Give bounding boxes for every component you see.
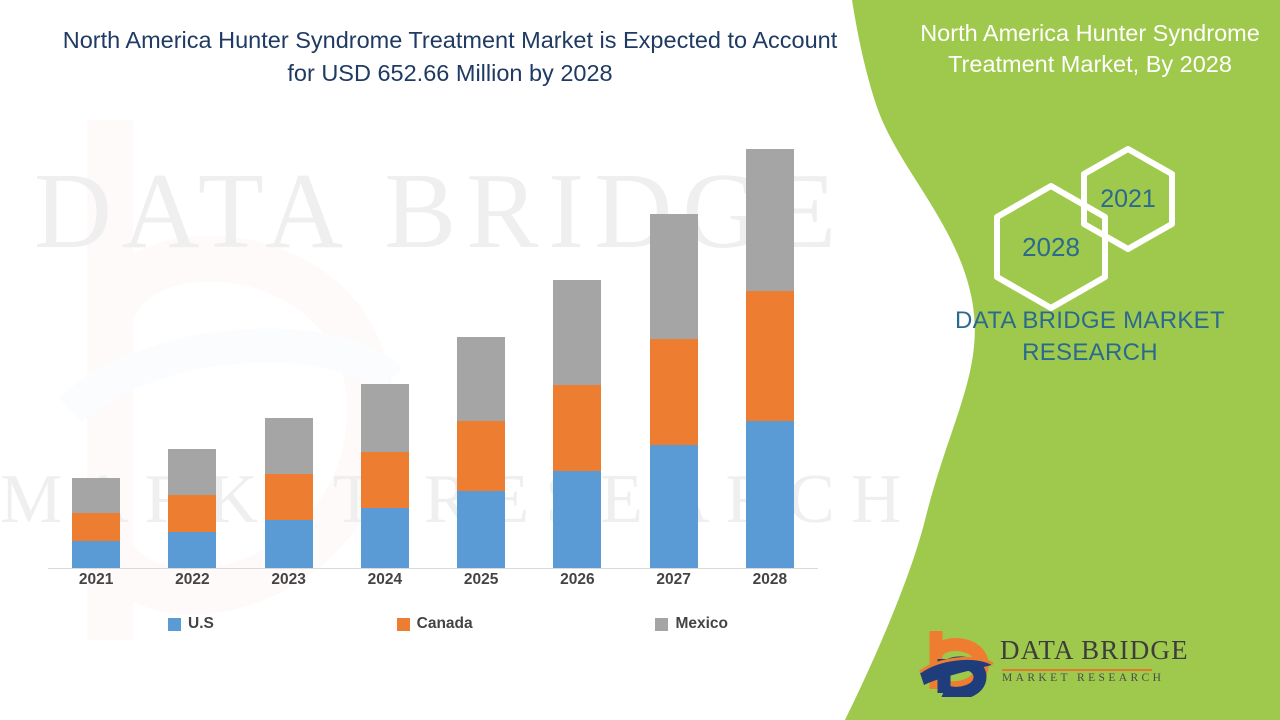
logo-divider bbox=[1002, 669, 1152, 671]
green-panel-content: North America Hunter Syndrome Treatment … bbox=[900, 0, 1280, 720]
logo-b-mark-icon bbox=[918, 625, 996, 697]
panel-brand-line-1: DATA BRIDGE MARKET bbox=[900, 305, 1280, 337]
panel-brand-text: DATA BRIDGE MARKET RESEARCH bbox=[900, 305, 1280, 369]
hexagon-large-label: 2028 bbox=[1022, 232, 1080, 263]
hexagon-group: 2021 2028 bbox=[900, 140, 1280, 310]
panel-title: North America Hunter Syndrome Treatment … bbox=[900, 18, 1280, 80]
data-bridge-logo: DATA BRIDGE MARKET RESEARCH bbox=[918, 625, 1158, 703]
hexagon-2028: 2028 bbox=[993, 182, 1109, 312]
logo-subtitle: MARKET RESEARCH bbox=[1002, 672, 1164, 684]
infographic-root: DATA BRIDGE MARKET RESEARCH North Americ… bbox=[0, 0, 1280, 720]
panel-brand-line-2: RESEARCH bbox=[900, 337, 1280, 369]
logo-title: DATA BRIDGE bbox=[1000, 635, 1189, 666]
